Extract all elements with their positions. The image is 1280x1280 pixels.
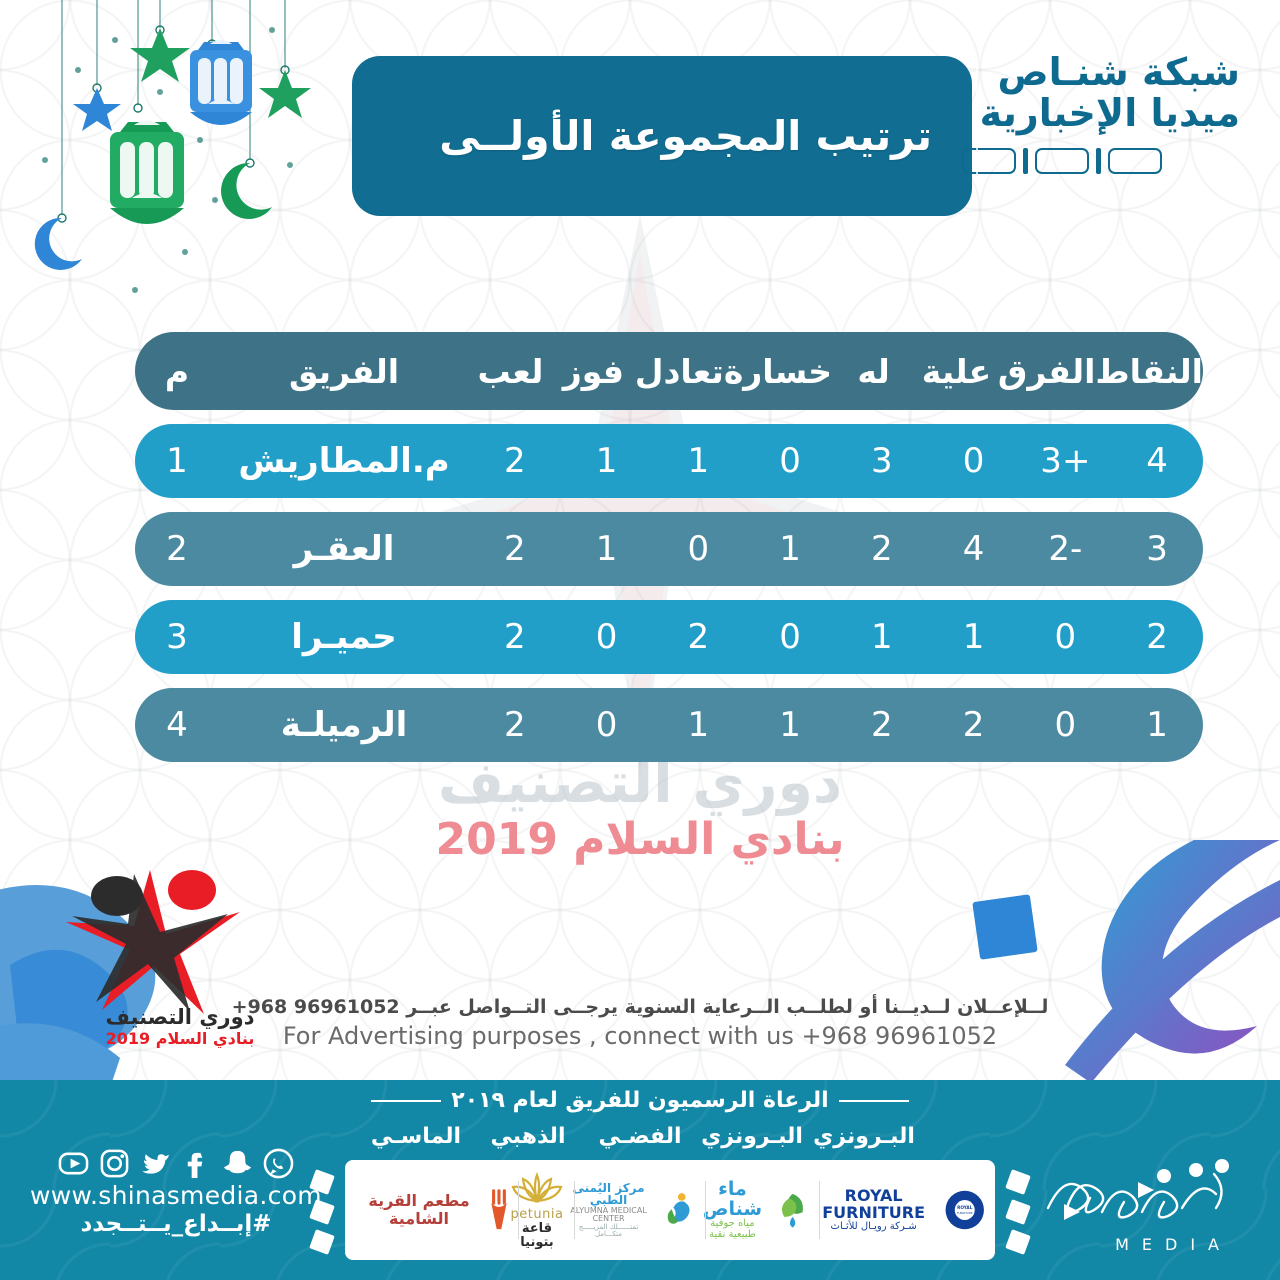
media-logo-word: MEDIA [1115, 1235, 1232, 1254]
standings-table: النقاط الفرق علية له خسارة تعادل فوز لعب… [135, 332, 1203, 776]
cell-loss: 0 [744, 617, 836, 657]
brand-mark-box [962, 148, 1016, 174]
brand-decorative-marks [962, 148, 1240, 174]
cell-points: 2 [1111, 617, 1203, 657]
sponsor-title-row: الرعاة الرسميون للفريق لعام ٢٠١٩ [0, 1088, 1280, 1113]
cell-against: 0 [928, 441, 1020, 481]
cell-win: 1 [561, 529, 653, 569]
medical-center-icon [658, 1183, 696, 1237]
sponsor-name: ROYAL FURNITURE [810, 1188, 938, 1222]
sponsor-logo-strip: ROYAL FURNITURE ROYAL FURNITURE شـركة رو… [345, 1160, 995, 1260]
sponsor-tagline: تمتــــــلك المزيـــــج متكـــامل [565, 1224, 652, 1239]
svg-text:FURNITURE: FURNITURE [956, 1211, 972, 1215]
title-dash-right [371, 1100, 441, 1102]
brand-mark-bar [1023, 148, 1028, 174]
sponsor-royal-furniture[interactable]: ROYAL FURNITURE ROYAL FURNITURE شـركة رو… [810, 1167, 985, 1253]
col-header-points: النقاط [1095, 352, 1203, 391]
tier-bronze-2: البـرونزي [808, 1124, 920, 1149]
col-header-loss: خسارة [724, 352, 832, 391]
cell-team: حميـرا [219, 617, 469, 657]
snapchat-icon[interactable] [222, 1148, 253, 1179]
page-title: ترتيب المجموعة الأولــى [439, 112, 932, 160]
sponsor-title: الرعاة الرسميون للفريق لعام ٢٠١٩ [451, 1088, 828, 1113]
advertising-block: لــلإعــلان لــديــنا أو لطلــب الــرعاي… [0, 996, 1280, 1050]
tier-diamond: الماسـي [360, 1124, 472, 1149]
cell-played: 2 [469, 617, 561, 657]
col-header-against: علية [915, 352, 998, 391]
col-header-win: فوز [552, 352, 635, 391]
website-url[interactable]: www.shinasmedia.com [26, 1181, 326, 1210]
cell-against: 4 [928, 529, 1020, 569]
cell-loss: 0 [744, 441, 836, 481]
cell-played: 2 [469, 441, 561, 481]
cell-win: 0 [561, 617, 653, 657]
cell-rank: 3 [135, 617, 219, 657]
brand-line-2: ميديا الإخبارية [962, 93, 1240, 134]
brand-mark-bar [1096, 148, 1101, 174]
brand-block: شبكة شنـاص ميديا الإخبارية [962, 52, 1262, 222]
cell-rank: 4 [135, 705, 219, 745]
facebook-icon[interactable] [181, 1148, 212, 1179]
cell-loss: 1 [744, 705, 836, 745]
brand-line-1: شبكة شنـاص [962, 52, 1240, 93]
fork-icon [489, 1183, 509, 1237]
cell-for: 2 [836, 705, 928, 745]
cell-rank: 1 [135, 441, 219, 481]
hashtag: #إبــداع_يــتــجدد [26, 1211, 326, 1237]
header-banner: ترتيب المجموعة الأولــى [352, 56, 972, 216]
ramadan-decoration-top [0, 0, 330, 330]
water-leaf-icon [775, 1183, 810, 1237]
sponsor-sub: شـركة رويـال للأثـاث [810, 1222, 938, 1233]
cell-diff: +3 [1020, 441, 1112, 481]
instagram-icon[interactable] [99, 1148, 130, 1179]
brand-mark-box [1035, 148, 1089, 174]
cell-team: م.المطاريش [219, 441, 469, 481]
sponsor-name: مركز اليُمنى الطبي [565, 1182, 652, 1207]
cell-diff: -2 [1020, 529, 1112, 569]
cell-win: 0 [561, 705, 653, 745]
sponsor-shinas-water[interactable]: ماء شناص مياه جوفية طبيعية نقية [696, 1167, 809, 1253]
cell-for: 3 [836, 441, 928, 481]
alqarya-text: مطعم القرية الشامية [355, 1192, 483, 1229]
tier-gold: الذهبي [472, 1124, 584, 1149]
cell-rank: 2 [135, 529, 219, 569]
col-header-draw: تعادل [635, 352, 724, 391]
cell-team: الرميلـة [219, 705, 469, 745]
table-row[interactable]: 4 +3 0 3 0 1 1 2 م.المطاريش 1 [135, 424, 1203, 498]
cell-points: 4 [1111, 441, 1203, 481]
table-header-row: النقاط الفرق علية له خسارة تعادل فوز لعب… [135, 332, 1203, 410]
royal-furniture-text: ROYAL FURNITURE شـركة رويـال للأثـاث [810, 1188, 938, 1232]
youtube-icon[interactable] [58, 1148, 89, 1179]
col-header-rank: م [135, 352, 219, 391]
cell-draw: 1 [653, 441, 745, 481]
cell-played: 2 [469, 529, 561, 569]
advert-english: For Advertising purposes , connect with … [0, 1022, 1280, 1050]
sponsor-alyumna-medical[interactable]: مركز اليُمنى الطبي ALYUMNA MEDICAL CENTE… [565, 1167, 696, 1253]
tier-silver: الفضـي [584, 1124, 696, 1149]
cell-against: 2 [928, 705, 1020, 745]
decorative-swirl-right [940, 840, 1280, 1090]
diamond-decoration-right [996, 1168, 1040, 1258]
col-header-played: لعب [469, 352, 552, 391]
cell-diff: 0 [1020, 705, 1112, 745]
sponsor-sub: مياه جوفية طبيعية نقية [696, 1219, 768, 1240]
cell-win: 1 [561, 441, 653, 481]
cell-team: العقـر [219, 529, 469, 569]
sponsor-name: مطعم القرية الشامية [355, 1192, 483, 1229]
table-row[interactable]: 3 -2 4 2 1 0 1 2 العقـر 2 [135, 512, 1203, 586]
social-icons [26, 1148, 326, 1179]
cell-draw: 0 [653, 529, 745, 569]
sponsor-sub: ALYUMNA MEDICAL CENTER [565, 1207, 652, 1224]
col-header-for: له [832, 352, 915, 391]
cell-points: 3 [1111, 529, 1203, 569]
alyumna-text: مركز اليُمنى الطبي ALYUMNA MEDICAL CENTE… [565, 1182, 652, 1239]
cell-against: 1 [928, 617, 1020, 657]
cell-played: 2 [469, 705, 561, 745]
cell-draw: 2 [653, 617, 745, 657]
social-block: www.shinasmedia.com #إبــداع_يــتــجدد [26, 1148, 326, 1237]
svg-text:ROYAL: ROYAL [957, 1205, 973, 1210]
brand-divider [976, 62, 978, 182]
cell-loss: 1 [744, 529, 836, 569]
tier-bronze-1: البـرونزي [696, 1124, 808, 1149]
col-header-diff: الفرق [998, 352, 1096, 391]
cell-points: 1 [1111, 705, 1203, 745]
cell-draw: 1 [653, 705, 745, 745]
cell-diff: 0 [1020, 617, 1112, 657]
cell-for: 2 [836, 529, 928, 569]
sponsor-name: ماء شناص [696, 1180, 768, 1220]
twitter-icon[interactable] [140, 1148, 171, 1179]
sponsor-alqarya-restaurant[interactable]: مطعم القرية الشامية [355, 1167, 509, 1253]
table-row[interactable]: 2 0 1 1 0 2 0 2 حميـرا 3 [135, 600, 1203, 674]
shinas-water-text: ماء شناص مياه جوفية طبيعية نقية [696, 1180, 768, 1241]
brand-mark-box [1108, 148, 1162, 174]
whatsapp-icon[interactable] [263, 1148, 294, 1179]
royal-furniture-icon: ROYAL FURNITURE [944, 1183, 985, 1237]
table-row[interactable]: 1 0 2 2 1 1 0 2 الرميلـة 4 [135, 688, 1203, 762]
col-header-team: الفريق [219, 352, 469, 391]
advert-arabic: لــلإعــلان لــديــنا أو لطلــب الــرعاي… [0, 996, 1280, 1018]
title-dash-left [839, 1100, 909, 1102]
cell-for: 1 [836, 617, 928, 657]
